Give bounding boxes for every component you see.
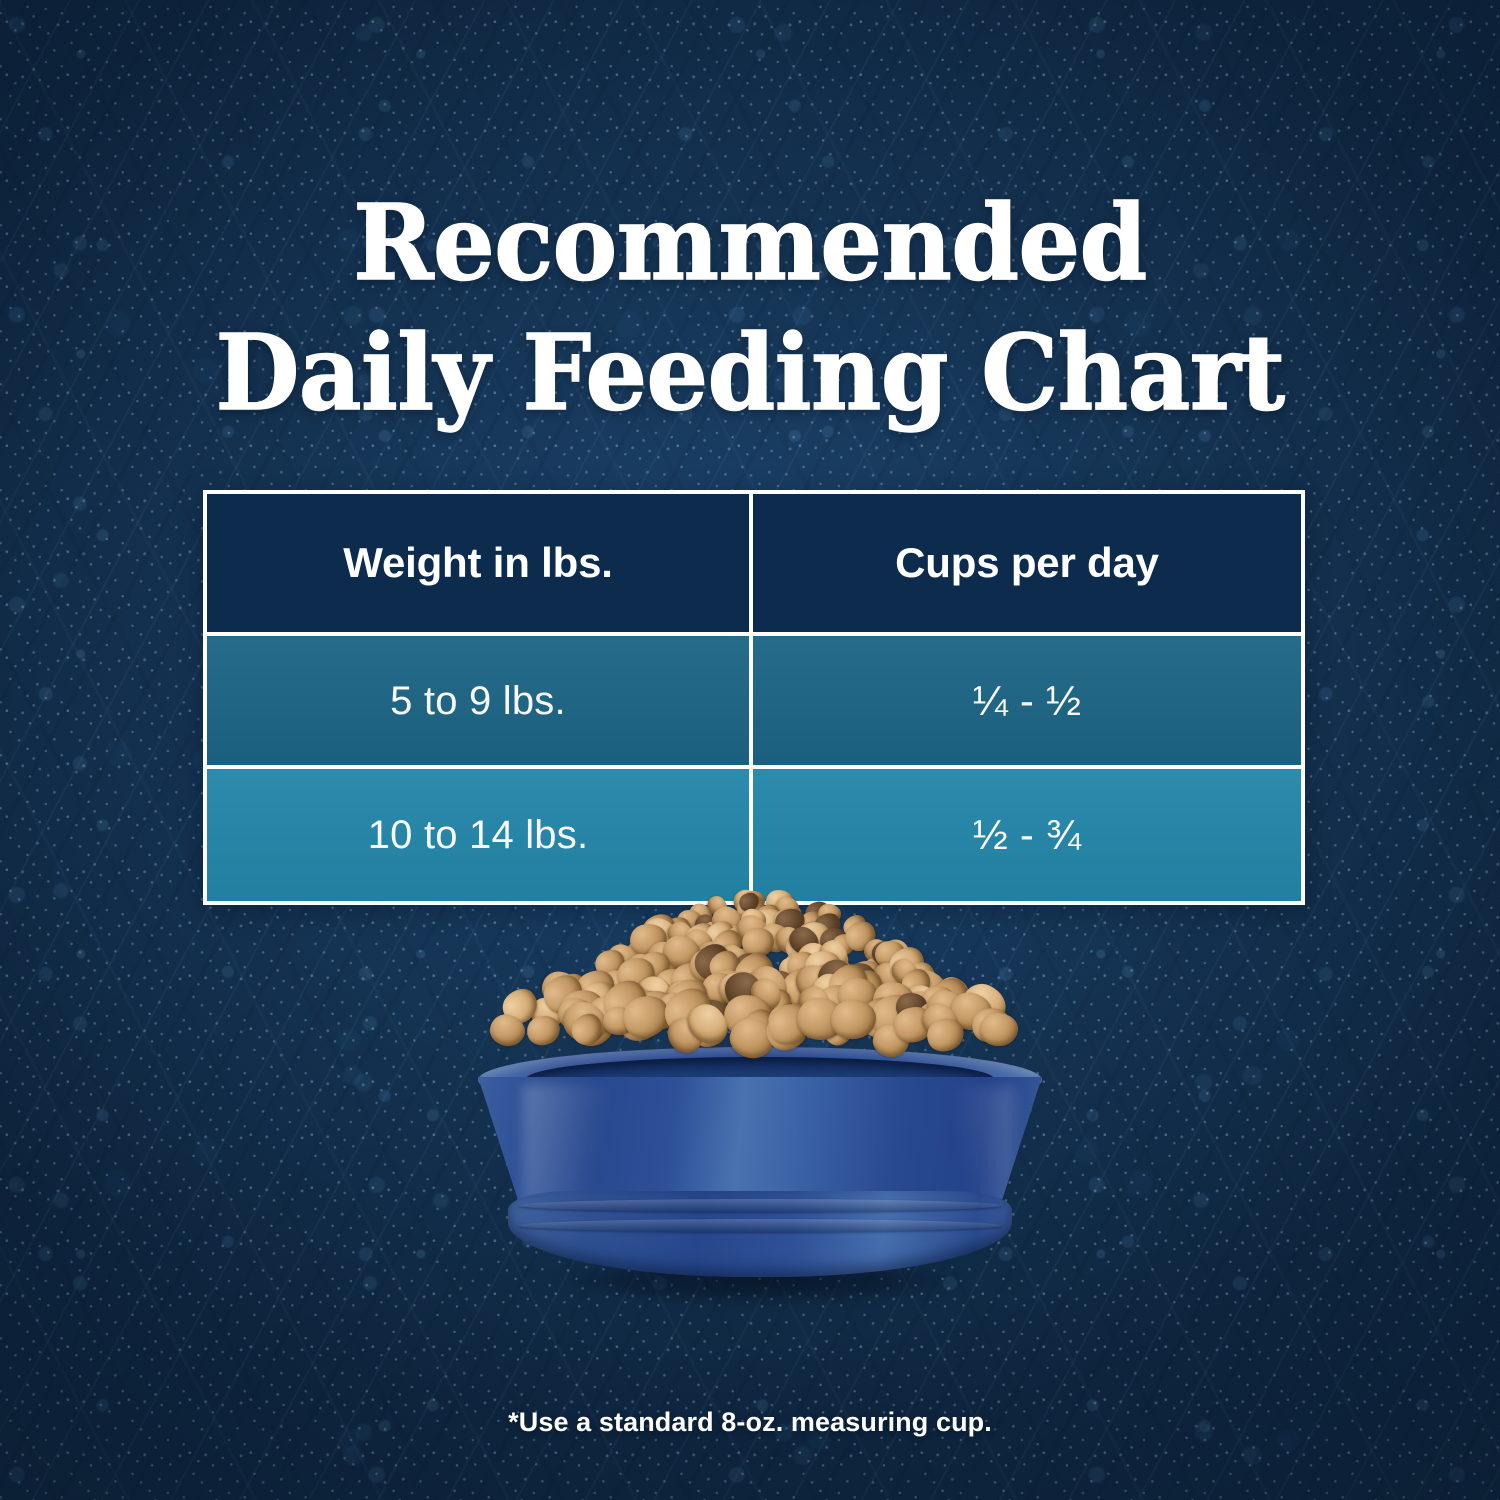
kibble-pile — [508, 893, 1012, 1063]
table-header-label-weight: Weight in lbs. — [343, 542, 612, 584]
kibble-piece — [980, 1013, 1018, 1047]
table-cell-cups: ¼ - ½ — [753, 636, 1301, 765]
footnote-text: *Use a standard 8-oz. measuring cup. — [0, 1407, 1500, 1438]
bowl-base — [508, 1191, 1012, 1277]
feeding-chart-table: Weight in lbs. Cups per day 5 to 9 lbs. … — [203, 490, 1305, 905]
dog-food-bowl-image — [478, 893, 1042, 1305]
table-row: 5 to 9 lbs. ¼ - ½ — [203, 632, 1305, 765]
page-title-line-2: Daily Feeding Chart — [53, 308, 1448, 438]
page-title-line-1: Recommended — [53, 178, 1448, 308]
table-cell-value-weight: 5 to 9 lbs. — [390, 681, 566, 721]
table-cell-cups: ½ - ¾ — [753, 769, 1301, 901]
table-cell-weight: 5 to 9 lbs. — [207, 636, 749, 765]
bowl-base-ring — [518, 1199, 1002, 1212]
page-title: Recommended Daily Feeding Chart — [53, 178, 1448, 438]
table-header-label-cups: Cups per day — [895, 542, 1159, 584]
table-header-cell-cups: Cups per day — [753, 494, 1301, 632]
table-header-row: Weight in lbs. Cups per day — [203, 490, 1305, 632]
table-header-cell-weight: Weight in lbs. — [207, 494, 749, 632]
table-cell-value-weight: 10 to 14 lbs. — [368, 815, 589, 855]
table-cell-weight: 10 to 14 lbs. — [207, 769, 749, 901]
table-row: 10 to 14 lbs. ½ - ¾ — [203, 765, 1305, 905]
table-cell-value-cups: ½ - ¾ — [973, 814, 1081, 856]
bowl-body — [478, 1047, 1042, 1277]
table-cell-value-cups: ¼ - ½ — [973, 680, 1081, 722]
bowl-base-ring — [518, 1219, 1002, 1232]
